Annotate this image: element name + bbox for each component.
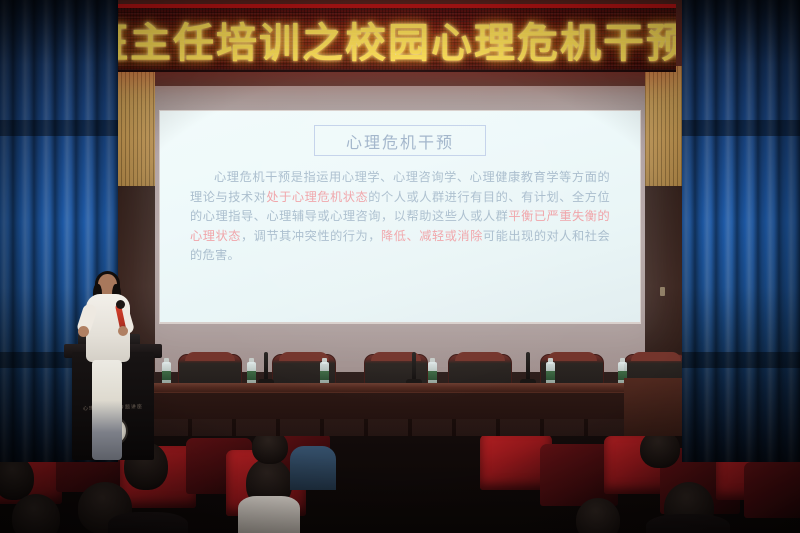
audience-torso [646, 514, 730, 533]
slide-title: 心理危机干预 [346, 129, 454, 153]
water-bottle [428, 356, 437, 386]
microphone-stem [264, 352, 268, 380]
auditorium-photo: 班主任培训之校园心理危机干预 心理危机干预 心理危机干预是指运用心理学、心理咨询… [0, 0, 800, 533]
microphone-stem [526, 352, 530, 380]
wood-slat-panel-left [113, 66, 155, 186]
slide-body-text: 心理危机干预是指运用心理学、心理咨询学、心理健康教育学等方面的理论与技术对处于心… [190, 168, 610, 266]
bottle-label [162, 371, 171, 380]
water-bottle [546, 356, 555, 386]
desk-microphone [410, 352, 418, 386]
led-banner-text: 班主任培训之校园心理危机干预 [100, 8, 676, 70]
chair-crest [631, 352, 681, 361]
presenter-hand-right [118, 326, 128, 336]
chair-crest [185, 352, 235, 361]
slide-plain-text: ，调节其冲突性的行为， [241, 229, 381, 243]
water-bottle [162, 356, 171, 386]
audience-torso [238, 496, 300, 533]
water-bottle [247, 356, 256, 386]
audience-head [252, 436, 288, 464]
microphone-stem [412, 352, 416, 380]
audience-head [640, 436, 680, 468]
door-handle-icon [660, 287, 665, 296]
auditorium-seat [744, 462, 800, 518]
table-chair [448, 350, 512, 386]
chair-crest [455, 352, 505, 361]
bottle-label [428, 371, 437, 380]
bottle-label [546, 371, 555, 380]
stage-curtain-right [682, 0, 800, 462]
bottle-label [247, 371, 256, 380]
presenter-legs [92, 360, 122, 460]
led-banner: 班主任培训之校园心理危机干预 [100, 4, 676, 72]
bottle-label [320, 371, 329, 380]
audience-torso [290, 446, 336, 490]
presenter [78, 274, 136, 460]
wood-slat-panel-right [645, 66, 687, 186]
desk-microphone [524, 352, 532, 386]
water-bottle [320, 356, 329, 386]
slide-title-box: 心理危机干预 [314, 125, 486, 156]
desk-microphone [262, 352, 270, 386]
side-table [624, 378, 682, 438]
audience-torso [108, 512, 188, 533]
presenter-hand-left [78, 326, 89, 337]
projection-screen: 心理危机干预 心理危机干预是指运用心理学、心理咨询学、心理健康教育学等方面的理论… [160, 111, 640, 322]
curtain-shading [682, 0, 800, 462]
table-chair [178, 350, 242, 386]
microphone-head-icon [116, 300, 125, 309]
audience-head [0, 456, 34, 500]
slide-highlight-text: 处于心理危机状态 [266, 190, 368, 204]
slide-highlight-text: 降低、减轻或消除 [381, 229, 483, 243]
